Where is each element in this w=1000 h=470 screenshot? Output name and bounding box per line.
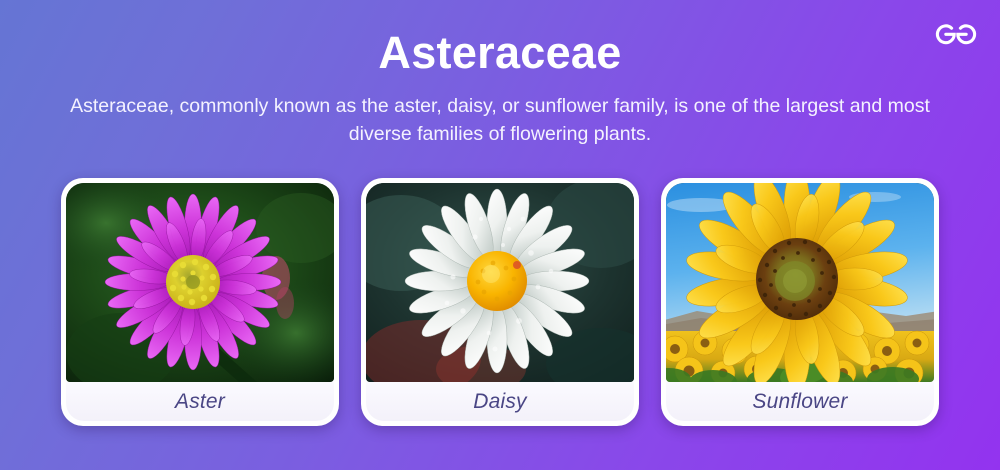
flower-label: Sunflower: [752, 390, 847, 414]
flower-card-daisy[interactable]: Daisy: [361, 178, 639, 426]
page-title: Asteraceae: [0, 26, 1000, 79]
page-subtitle: Asteraceae, commonly known as the aster,…: [50, 92, 950, 149]
page-header: Asteraceae Asteraceae, commonly known as…: [0, 0, 1000, 149]
flower-card-caption: Aster: [66, 382, 334, 421]
aster-flower-photo: [66, 183, 334, 382]
flower-card-caption: Sunflower: [666, 382, 934, 421]
flower-label: Aster: [175, 390, 225, 414]
flower-label: Daisy: [473, 390, 527, 414]
flower-card-list: Aster: [0, 178, 1000, 426]
flower-card-sunflower[interactable]: Sunflower: [661, 178, 939, 426]
sunflower-photo: [666, 183, 934, 382]
daisy-flower-photo: [366, 183, 634, 382]
flower-card-aster[interactable]: Aster: [61, 178, 339, 426]
flower-card-caption: Daisy: [366, 382, 634, 421]
page-root: Asteraceae Asteraceae, commonly known as…: [0, 0, 1000, 470]
